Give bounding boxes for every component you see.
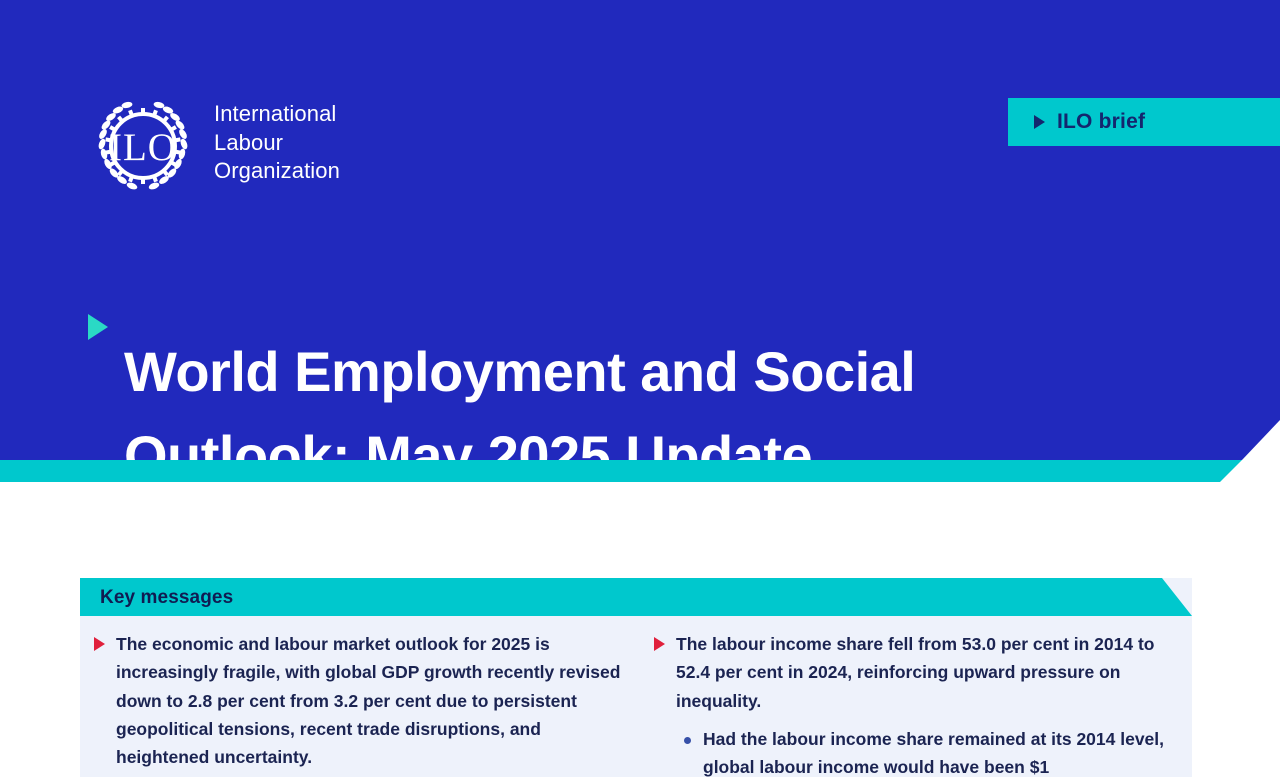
organization-line-1: International: [214, 100, 340, 129]
svg-text:ILO: ILO: [109, 126, 177, 169]
masthead-banner: ILO International Labour Organization IL…: [0, 0, 1280, 460]
sub-list-item-text: Had the labour income share remained at …: [703, 725, 1180, 777]
dot-icon: [684, 737, 691, 744]
organization-line-3: Organization: [214, 157, 340, 186]
key-messages-header: Key messages: [80, 578, 1192, 616]
ilo-emblem-icon: ILO: [88, 92, 198, 200]
key-messages-heading: Key messages: [100, 587, 233, 609]
document-page: ILO International Labour Organization IL…: [0, 0, 1280, 777]
ilo-brief-badge: ILO brief: [1008, 98, 1280, 146]
triangle-right-icon: [94, 637, 105, 651]
list-item-text: The labour income share fell from 53.0 p…: [676, 630, 1180, 715]
organization-name: International Labour Organization: [214, 92, 340, 186]
teal-accent-band: [0, 460, 1280, 482]
title-block: World Employment and Social Outlook: May…: [88, 292, 1088, 535]
list-item-text: The economic and labour market outlook f…: [116, 630, 636, 772]
list-item: The economic and labour market outlook f…: [94, 630, 636, 772]
key-messages-column-right: The labour income share fell from 53.0 p…: [646, 630, 1192, 777]
key-messages-columns: The economic and labour market outlook f…: [80, 616, 1192, 777]
triangle-right-icon: [88, 314, 108, 340]
ilo-brief-label: ILO brief: [1057, 110, 1145, 134]
triangle-right-icon: [1034, 115, 1045, 129]
list-item: The labour income share fell from 53.0 p…: [654, 630, 1180, 715]
triangle-right-icon: [654, 637, 665, 651]
organization-line-2: Labour: [214, 129, 340, 158]
ilo-logo-block: ILO International Labour Organization: [88, 92, 340, 200]
key-messages-box: Key messages The economic and labour mar…: [80, 578, 1192, 777]
key-messages-column-left: The economic and labour market outlook f…: [80, 630, 646, 777]
sub-list-item: Had the labour income share remained at …: [684, 725, 1180, 777]
